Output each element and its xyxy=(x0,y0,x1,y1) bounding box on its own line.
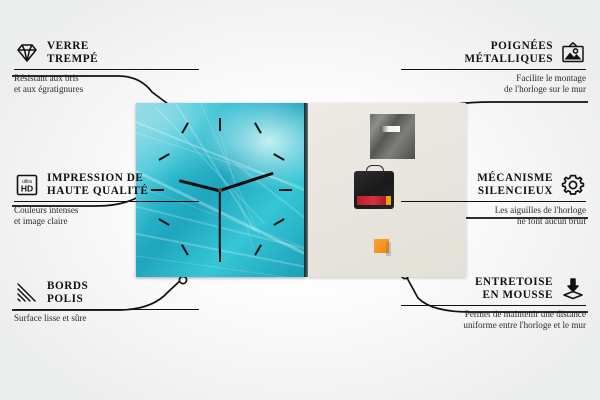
feature-title: VERRE TREMPÉ xyxy=(47,40,98,66)
clock-tick xyxy=(254,122,262,133)
feature-title: MÉCANISME SILENCIEUX xyxy=(477,172,553,198)
hanger-slot xyxy=(380,126,400,132)
feature-title: IMPRESSION DE HAUTE QUALITÉ xyxy=(47,172,148,198)
battery-terminal xyxy=(386,196,391,205)
feature-subtitle: Surface lisse et sûre xyxy=(14,313,199,324)
second-hand xyxy=(219,191,221,253)
svg-text:HD: HD xyxy=(21,184,33,194)
feature-subtitle: Résistant aux bris et aux égratignures xyxy=(14,73,199,95)
divider xyxy=(401,305,586,306)
feature-poignees-metalliques[interactable]: POIGNÉES MÉTALLIQUES Facilite le montage… xyxy=(401,40,586,95)
divider xyxy=(14,309,199,310)
divider xyxy=(401,201,586,202)
clock-tick xyxy=(181,122,189,133)
feature-subtitle: Permet de maintenir une distance uniform… xyxy=(401,309,586,331)
feature-bords-polis[interactable]: BORDS POLIS Surface lisse et sûre xyxy=(14,280,199,324)
clock-tick xyxy=(254,244,262,255)
clock-mechanism-box xyxy=(354,171,394,209)
minute-hand xyxy=(220,172,274,192)
foam-spacer-shadow xyxy=(386,242,391,256)
diagonal-lines-icon xyxy=(14,281,40,305)
infographic-canvas: VERRE TREMPÉ Résistant aux bris et aux é… xyxy=(0,0,600,400)
feature-subtitle: Les aiguilles de l'horloge ne font aucun… xyxy=(401,205,586,227)
clock-tick xyxy=(181,244,189,255)
feature-subtitle: Couleurs intenses et image claire xyxy=(14,205,199,227)
clock-tick xyxy=(279,189,292,191)
feature-title: POIGNÉES MÉTALLIQUES xyxy=(464,40,553,66)
feature-title: ENTRETOISE EN MOUSSE xyxy=(475,276,553,302)
foam-spacer xyxy=(374,239,389,253)
picture-frame-hanger-icon xyxy=(560,41,586,65)
feature-impression-haute-qualite[interactable]: ultra HD IMPRESSION DE HAUTE QUALITÉ Cou… xyxy=(14,172,199,227)
ultra-hd-badge-icon: ultra HD xyxy=(14,173,40,197)
feature-title: BORDS POLIS xyxy=(47,280,88,306)
divider xyxy=(401,69,586,70)
feature-verre-trempe[interactable]: VERRE TREMPÉ Résistant aux bris et aux é… xyxy=(14,40,199,95)
divider xyxy=(14,201,199,202)
clock-tick xyxy=(273,153,284,161)
mechanism-hanging-loop xyxy=(366,165,384,176)
clock-center-pin xyxy=(218,188,222,192)
clock-tick xyxy=(158,153,169,161)
gear-icon xyxy=(560,173,586,197)
clock-tick xyxy=(273,218,284,226)
feature-mecanisme-silencieux[interactable]: MÉCANISME SILENCIEUX Les aiguilles de l'… xyxy=(401,172,586,227)
divider xyxy=(14,69,199,70)
down-arrow-foam-icon xyxy=(560,277,586,301)
battery xyxy=(357,196,387,205)
metal-hanger-plate xyxy=(370,114,415,159)
diamond-icon xyxy=(14,41,40,65)
feature-subtitle: Facilite le montage de l'horloge sur le … xyxy=(401,73,586,95)
feature-entretoise-en-mousse[interactable]: ENTRETOISE EN MOUSSE Permet de maintenir… xyxy=(401,276,586,331)
clock-tick xyxy=(219,118,221,131)
